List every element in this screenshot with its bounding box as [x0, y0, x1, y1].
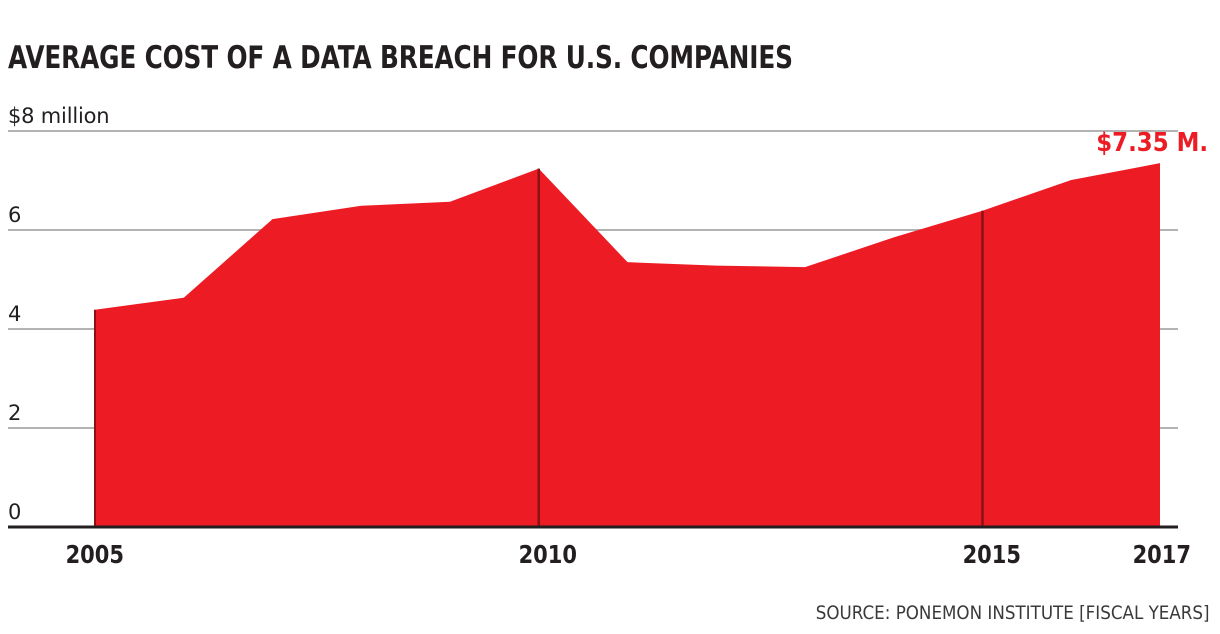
x-tick-label: 2017	[1133, 540, 1191, 569]
area-chart-svg	[0, 0, 1220, 634]
x-tick-label: 2005	[65, 540, 123, 569]
y-tick-label: $8 million	[8, 104, 109, 128]
area-series-fill	[95, 163, 1160, 527]
source-note: SOURCE: PONEMON INSTITUTE [FISCAL YEARS]	[816, 602, 1210, 624]
y-tick-label: 6	[8, 203, 21, 227]
y-tick-label: 4	[8, 302, 21, 326]
x-tick-label: 2015	[963, 540, 1021, 569]
y-tick-label: 2	[8, 401, 21, 425]
y-tick-label: 0	[8, 500, 21, 524]
x-tick-label: 2010	[519, 540, 577, 569]
latest-value-callout: $7.35 M.	[1096, 128, 1208, 158]
chart-page: AVERAGE COST OF A DATA BREACH FOR U.S. C…	[0, 0, 1220, 634]
series-group	[95, 163, 1160, 527]
chart-plot-area	[0, 0, 1220, 634]
